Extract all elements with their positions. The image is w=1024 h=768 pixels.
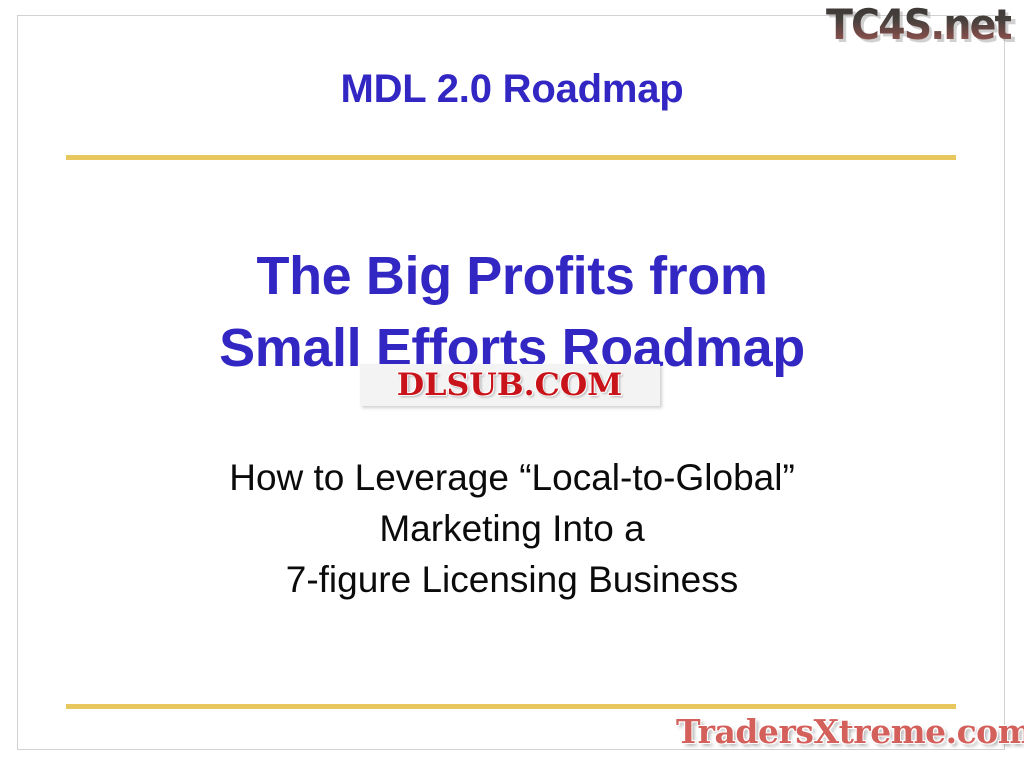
page-title: MDL 2.0 Roadmap bbox=[0, 64, 1024, 114]
watermark-tc4s: TC4S.net bbox=[826, 2, 1012, 48]
subtitle-line-3: 7-figure Licensing Business bbox=[0, 554, 1024, 605]
slide-canvas: MDL 2.0 Roadmap The Big Profits from Sma… bbox=[0, 0, 1024, 768]
watermark-dlsub: DLSUB.COM bbox=[360, 364, 660, 406]
subtitle-line-2: Marketing Into a bbox=[0, 503, 1024, 554]
subtitle-block: How to Leverage “Local-to-Global” Market… bbox=[0, 452, 1024, 605]
subtitle-line-1: How to Leverage “Local-to-Global” bbox=[0, 452, 1024, 503]
watermark-dlsub-text: DLSUB.COM bbox=[397, 367, 623, 403]
divider-rule-bottom bbox=[66, 704, 956, 709]
divider-rule-top bbox=[66, 155, 956, 160]
main-heading-line-1: The Big Profits from bbox=[0, 240, 1024, 312]
watermark-tradersxtreme: TradersXtreme.com bbox=[676, 712, 1024, 751]
main-heading: The Big Profits from Small Efforts Roadm… bbox=[0, 240, 1024, 384]
